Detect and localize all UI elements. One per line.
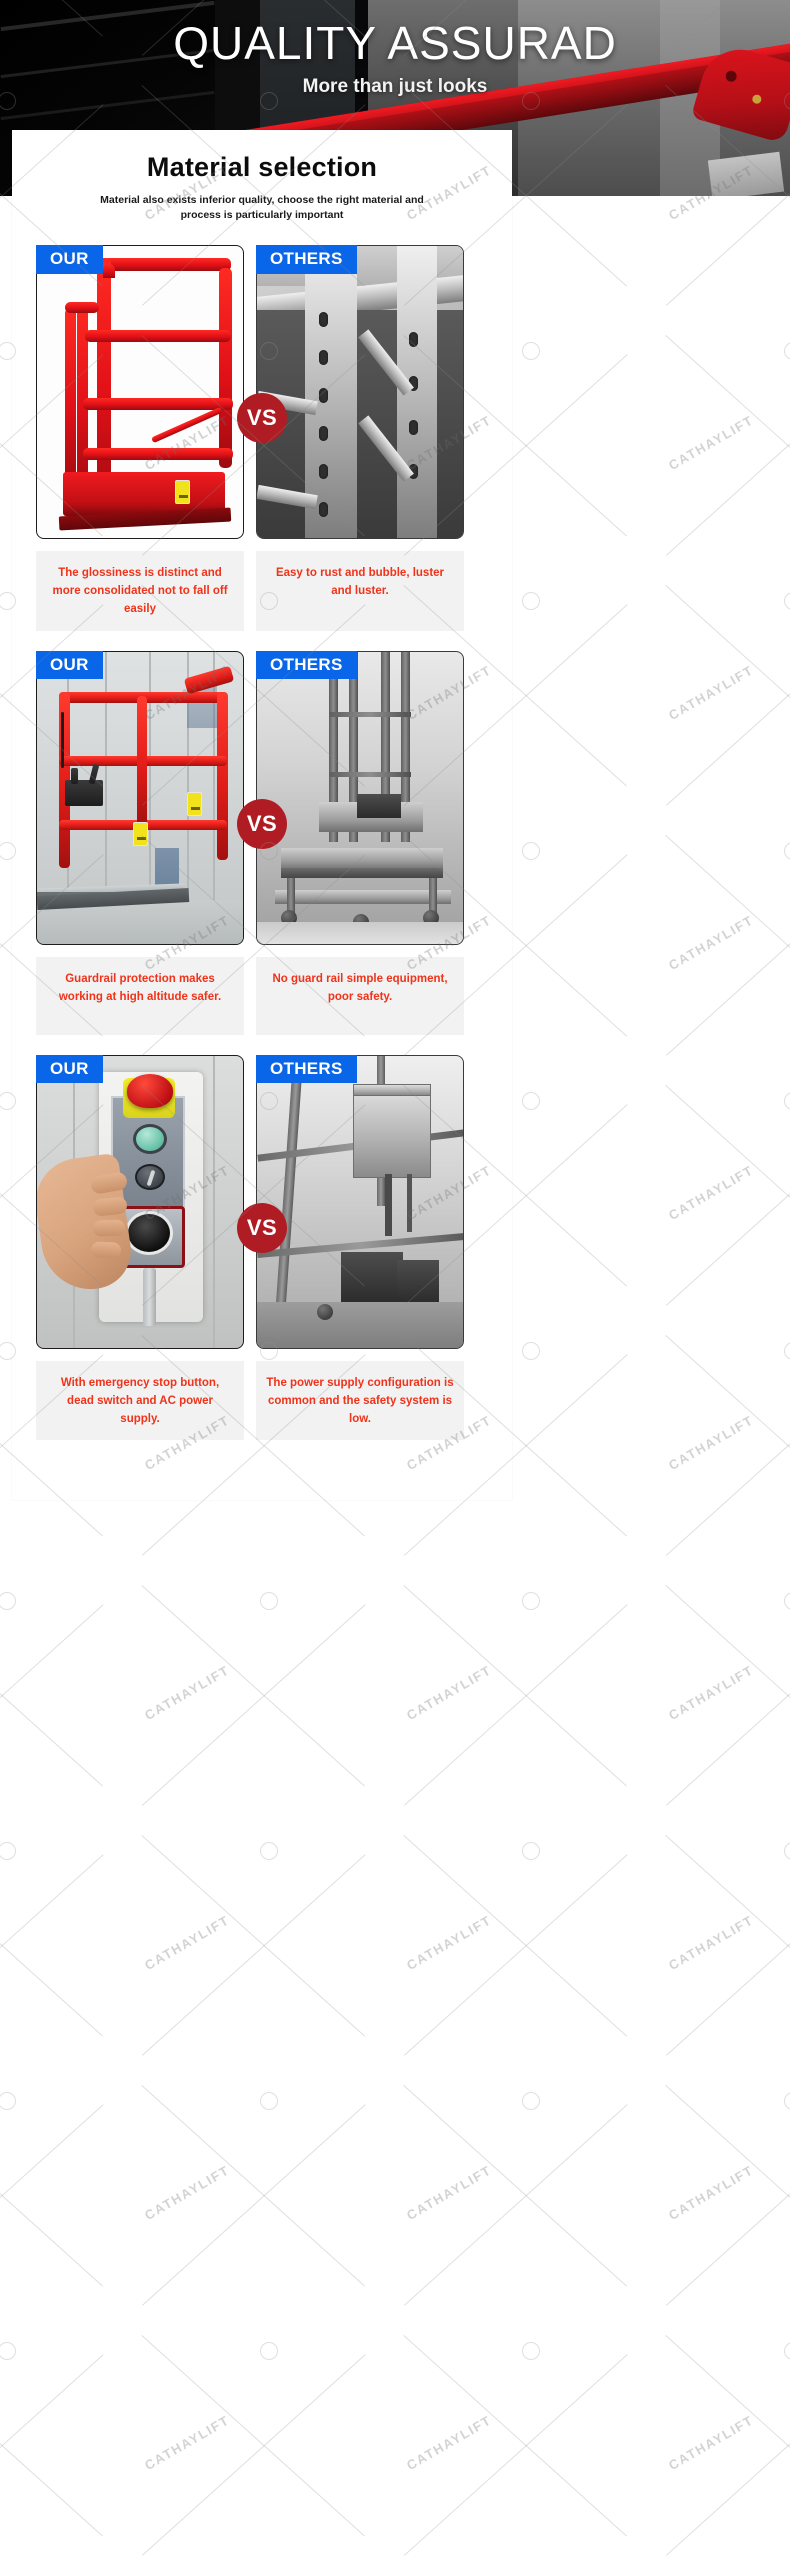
watermark-text: CATHAYLIFT bbox=[404, 2162, 494, 2223]
finger bbox=[93, 1219, 126, 1236]
watermark-text: CATHAYLIFT bbox=[666, 1162, 756, 1223]
watermark-text: CATHAYLIFT bbox=[142, 2162, 232, 2223]
watermark-line bbox=[0, 2335, 103, 2536]
watermark-line bbox=[666, 1604, 790, 1805]
ac-power-socket[interactable] bbox=[125, 1211, 173, 1255]
watermark-line bbox=[666, 854, 790, 1055]
watermark-ring bbox=[784, 1342, 790, 1360]
watermark-line bbox=[142, 1854, 366, 2055]
watermark-text: CATHAYLIFT bbox=[404, 2412, 494, 2473]
watermark-line bbox=[665, 835, 790, 1036]
watermark-ring bbox=[522, 1092, 540, 1110]
watermark-line bbox=[141, 2085, 365, 2286]
watermark-text: CATHAYLIFT bbox=[666, 2162, 756, 2223]
key-switch[interactable] bbox=[135, 1164, 165, 1190]
others-caption: The power supply configuration is common… bbox=[256, 1361, 464, 1440]
ours-photo-emergency-stop-control-panel bbox=[36, 1055, 244, 1349]
ours-badge: OUR bbox=[36, 1055, 103, 1083]
vs-badge: VS bbox=[237, 799, 287, 849]
watermark-ring bbox=[0, 2342, 16, 2360]
power-cable bbox=[143, 1268, 156, 1326]
comparison-row: OUR bbox=[36, 245, 488, 630]
watermark-ring bbox=[784, 842, 790, 860]
watermark-ring bbox=[0, 1842, 16, 1860]
watermark-line bbox=[665, 2085, 790, 2286]
others-pane: OTHERS bbox=[256, 651, 464, 945]
watermark-ring bbox=[784, 592, 790, 610]
warning-label bbox=[175, 480, 190, 504]
watermark-line bbox=[665, 1585, 790, 1786]
watermark-line bbox=[666, 2104, 790, 2305]
others-badge: OTHERS bbox=[256, 1055, 357, 1083]
watermark-line bbox=[404, 2104, 628, 2305]
watermark-ring bbox=[522, 1592, 540, 1610]
watermark-ring bbox=[522, 2342, 540, 2360]
watermark-line bbox=[666, 1354, 790, 1555]
watermark-ring bbox=[522, 842, 540, 860]
ours-pane: OUR bbox=[36, 245, 244, 539]
watermark-ring bbox=[522, 342, 540, 360]
watermark-line bbox=[665, 335, 790, 536]
control-box bbox=[65, 780, 103, 806]
others-pane: OTHERS bbox=[256, 1055, 464, 1349]
watermark-ring bbox=[784, 2342, 790, 2360]
watermark-line bbox=[666, 2354, 790, 2555]
section-title: Material selection bbox=[36, 152, 488, 183]
others-photo-mast-lift-no-guardrail bbox=[256, 651, 464, 945]
vs-badge: VS bbox=[237, 393, 287, 443]
ours-pane: OUR bbox=[36, 1055, 244, 1349]
watermark-text: CATHAYLIFT bbox=[142, 2412, 232, 2473]
warning-label bbox=[133, 822, 148, 846]
watermark-line bbox=[665, 1835, 790, 2036]
watermark-text: CATHAYLIFT bbox=[666, 2412, 756, 2473]
watermark-line bbox=[404, 1854, 628, 2055]
vs-badge: VS bbox=[237, 1203, 287, 1253]
section-subtitle: Material also exists inferior quality, c… bbox=[97, 193, 427, 223]
joystick bbox=[71, 768, 78, 784]
others-photo-exposed-control-box bbox=[256, 1055, 464, 1349]
watermark-line bbox=[0, 1854, 104, 2055]
watermark-ring bbox=[522, 1342, 540, 1360]
watermark-line bbox=[404, 2354, 628, 2555]
watermark-text: CATHAYLIFT bbox=[666, 912, 756, 973]
others-badge: OTHERS bbox=[256, 245, 357, 273]
watermark-line bbox=[142, 1604, 366, 1805]
watermark-text: CATHAYLIFT bbox=[404, 1912, 494, 1973]
watermark-line bbox=[666, 354, 790, 555]
ours-badge: OUR bbox=[36, 245, 103, 273]
watermark-ring bbox=[784, 342, 790, 360]
watermark-line bbox=[404, 1604, 628, 1805]
finger bbox=[91, 1241, 122, 1258]
watermark-ring bbox=[260, 2342, 278, 2360]
watermark-ring bbox=[784, 1592, 790, 1610]
watermark-ring bbox=[260, 2092, 278, 2110]
watermark-line bbox=[141, 1585, 365, 1786]
watermark-ring bbox=[522, 2092, 540, 2110]
watermark-text: CATHAYLIFT bbox=[666, 662, 756, 723]
caster-wheel bbox=[317, 1304, 333, 1320]
watermark-text: CATHAYLIFT bbox=[404, 1662, 494, 1723]
control-box-enclosure bbox=[353, 1092, 431, 1178]
watermark-ring bbox=[522, 1842, 540, 1860]
watermark-ring bbox=[784, 2092, 790, 2110]
others-caption: No guard rail simple equipment, poor saf… bbox=[256, 957, 464, 1035]
emergency-stop-button[interactable] bbox=[127, 1074, 173, 1108]
others-pane: OTHERS bbox=[256, 245, 464, 539]
banner-metal-plate bbox=[708, 152, 784, 196]
others-photo-grey-rusty-rack bbox=[256, 245, 464, 539]
watermark-text: CATHAYLIFT bbox=[666, 1912, 756, 1973]
watermark-line bbox=[403, 1835, 627, 2036]
banner-title: QUALITY ASSURAD bbox=[0, 16, 790, 71]
watermark-line bbox=[666, 1104, 790, 1305]
ours-caption: With emergency stop button, dead switch … bbox=[36, 1361, 244, 1440]
watermark-line bbox=[665, 2335, 790, 2536]
ours-caption: Guardrail protection makes working at hi… bbox=[36, 957, 244, 1035]
watermark-line bbox=[0, 1585, 103, 1786]
ours-photo-red-guardrail-platform bbox=[36, 245, 244, 539]
watermark-line bbox=[403, 2335, 627, 2536]
watermark-line bbox=[0, 1835, 103, 2036]
watermark-ring bbox=[522, 592, 540, 610]
watermark-line bbox=[0, 1604, 104, 1805]
material-selection-card: Material selection Material also exists … bbox=[12, 130, 512, 1500]
warning-label bbox=[187, 792, 202, 816]
watermark-ring bbox=[0, 2092, 16, 2110]
watermark-line bbox=[141, 1835, 365, 2036]
watermark-ring bbox=[0, 1592, 16, 1610]
green-start-button[interactable] bbox=[133, 1124, 167, 1154]
watermark-line bbox=[0, 2085, 103, 2286]
watermark-line bbox=[665, 1085, 790, 1286]
ours-caption: The glossiness is distinct and more cons… bbox=[36, 551, 244, 630]
watermark-text: CATHAYLIFT bbox=[142, 1912, 232, 1973]
comparison-row: OUR bbox=[36, 1055, 488, 1440]
watermark-line bbox=[666, 604, 790, 805]
watermark-text: CATHAYLIFT bbox=[142, 1662, 232, 1723]
ours-photo-guardrail-work-platform bbox=[36, 651, 244, 945]
watermark-line bbox=[0, 2104, 104, 2305]
watermark-line bbox=[403, 2085, 627, 2286]
watermark-line bbox=[403, 1585, 627, 1786]
banner-subtitle: More than just looks bbox=[0, 76, 790, 98]
comparison-row: OUR bbox=[36, 651, 488, 1035]
watermark-text: CATHAYLIFT bbox=[666, 1662, 756, 1723]
watermark-line bbox=[142, 2104, 366, 2305]
watermark-text: CATHAYLIFT bbox=[666, 1412, 756, 1473]
watermark-ring bbox=[784, 1092, 790, 1110]
others-caption: Easy to rust and bubble, luster and lust… bbox=[256, 551, 464, 630]
watermark-line bbox=[142, 2354, 366, 2555]
others-badge: OTHERS bbox=[256, 651, 357, 679]
watermark-ring bbox=[784, 1842, 790, 1860]
watermark-line bbox=[666, 1854, 790, 2055]
watermark-text: CATHAYLIFT bbox=[666, 412, 756, 473]
watermark-ring bbox=[260, 1842, 278, 1860]
watermark-line bbox=[665, 1335, 790, 1536]
watermark-line bbox=[665, 585, 790, 786]
ours-pane: OUR bbox=[36, 651, 244, 945]
ours-badge: OUR bbox=[36, 651, 103, 679]
watermark-ring bbox=[260, 1592, 278, 1610]
battery-pack bbox=[341, 1252, 403, 1304]
watermark-line bbox=[0, 2354, 104, 2555]
watermark-line bbox=[141, 2335, 365, 2536]
